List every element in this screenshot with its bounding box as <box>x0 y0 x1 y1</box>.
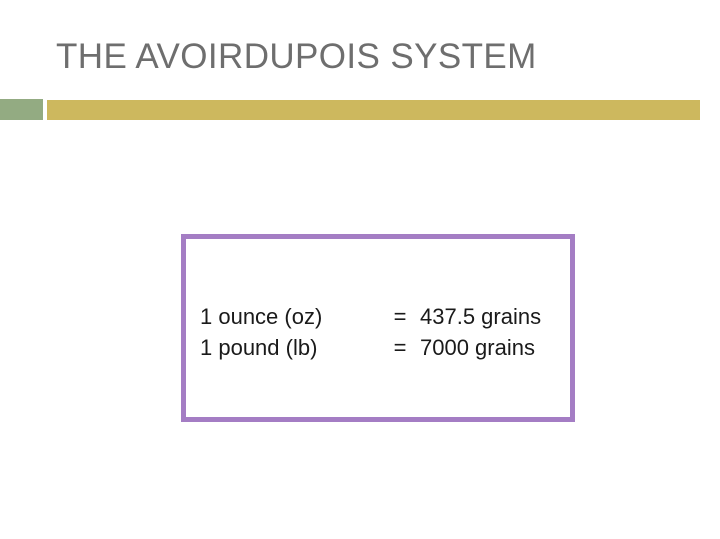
page-title: THE AVOIRDUPOIS SYSTEM <box>56 36 537 78</box>
conversion-unit-ounce: 1 ounce (oz) <box>200 301 380 332</box>
conversion-value-pound: 7000 grains <box>420 332 541 363</box>
conversion-value-ounce: 437.5 grains <box>420 301 541 332</box>
conversion-table: 1 ounce (oz) = 437.5 grains 1 pound (lb)… <box>200 301 541 363</box>
presentation-slide: THE AVOIRDUPOIS SYSTEM 1 ounce (oz) = 43… <box>0 0 720 539</box>
accent-bar-decoration <box>47 100 700 120</box>
equals-sign-ounce: = <box>380 301 420 332</box>
conversion-unit-pound: 1 pound (lb) <box>200 332 380 363</box>
table-row: 1 pound (lb) = 7000 grains <box>200 332 541 363</box>
table-row: 1 ounce (oz) = 437.5 grains <box>200 301 541 332</box>
equals-sign-pound: = <box>380 332 420 363</box>
accent-square-decoration <box>0 99 43 120</box>
conversion-fact-box: 1 ounce (oz) = 437.5 grains 1 pound (lb)… <box>181 234 575 422</box>
